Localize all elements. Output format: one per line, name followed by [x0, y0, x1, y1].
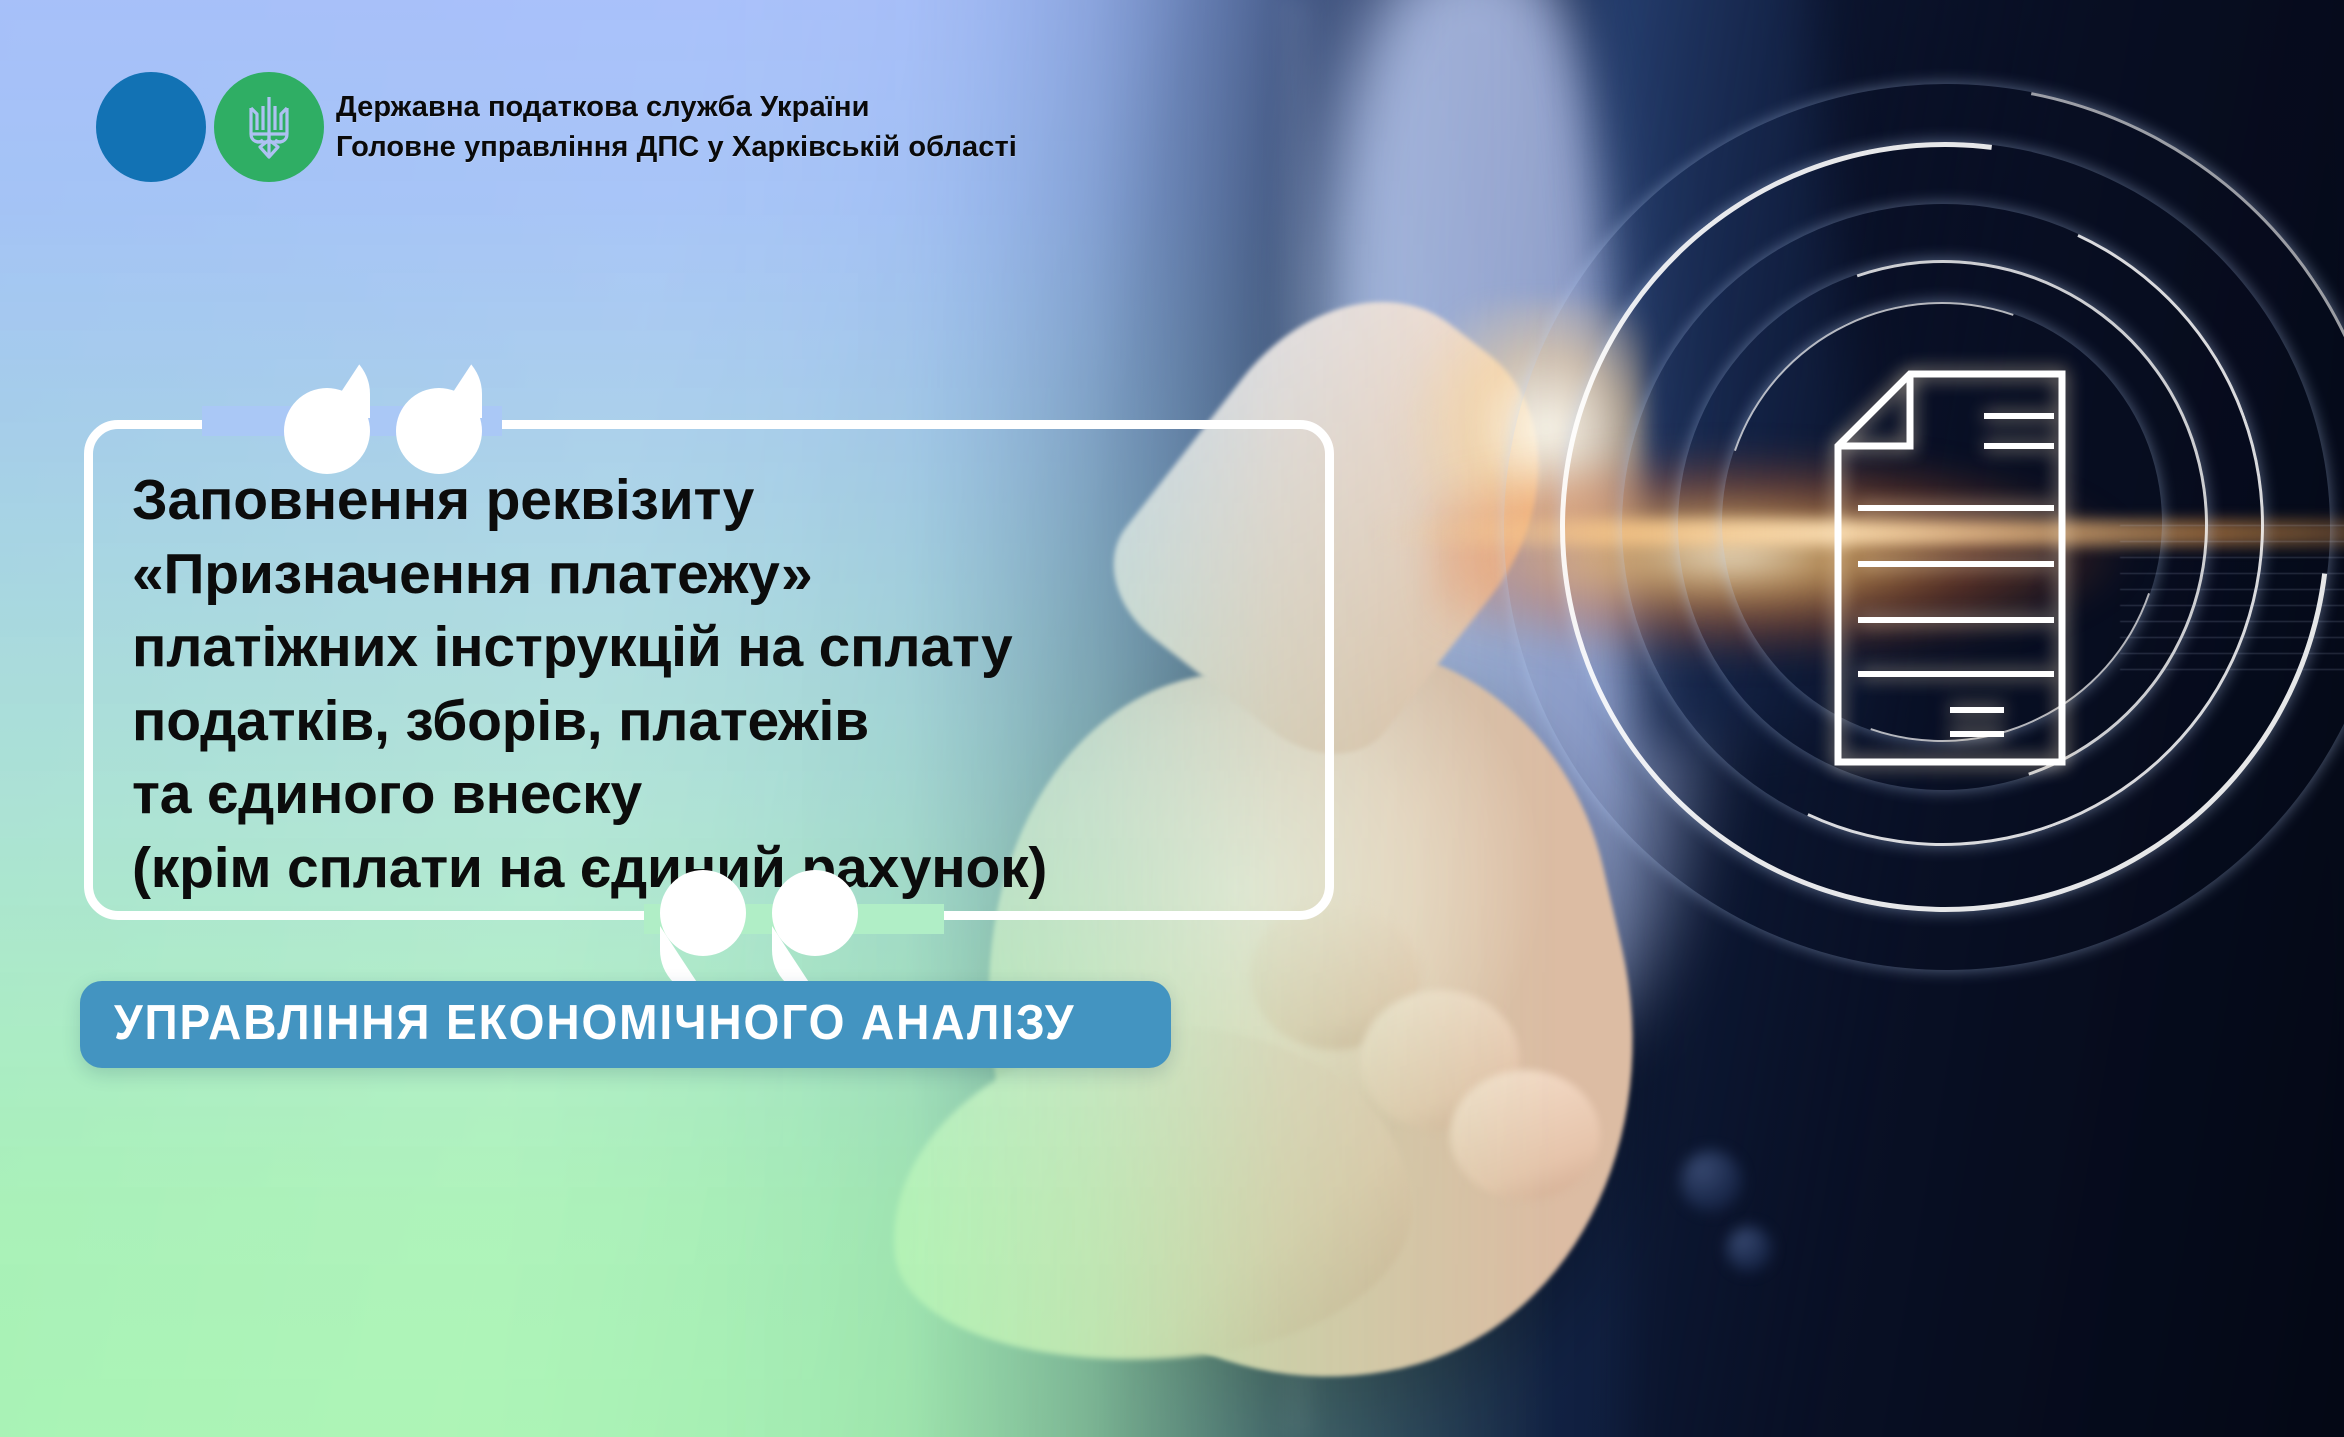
department-banner: УПРАВЛІННЯ ЕКОНОМІЧНОГО АНАЛІЗУ	[80, 981, 1171, 1068]
poster-canvas: Державна податкова служба України Головн…	[0, 0, 2344, 1437]
closing-quote-mark-icon	[660, 868, 858, 996]
scanline-texture	[2120, 510, 2344, 670]
department-banner-label: УПРАВЛІННЯ ЕКОНОМІЧНОГО АНАЛІЗУ	[114, 999, 1075, 1048]
ukraine-trident-icon	[242, 94, 296, 160]
brand-text-block: Державна податкова служба України Головн…	[336, 90, 1017, 164]
org-name-line-2: Головне управління ДПС у Харківській обл…	[336, 130, 1017, 164]
hologram-graphic	[1600, 190, 2300, 890]
quote-text: Заповнення реквізиту «Призначення платеж…	[132, 464, 1294, 905]
quote-line-2: «Призначення платежу»	[132, 538, 1294, 612]
quote-block: Заповнення реквізиту «Призначення платеж…	[84, 420, 1334, 920]
dps-logo	[96, 68, 324, 186]
logo-green-circle-icon	[214, 72, 324, 182]
quote-line-4: податків, зборів, платежів	[132, 685, 1294, 759]
brand-header: Державна податкова служба України Головн…	[96, 68, 1017, 186]
document-page-icon	[1832, 368, 2068, 768]
quote-line-5: та єдиного внеску	[132, 758, 1294, 832]
quote-line-1: Заповнення реквізиту	[132, 464, 1294, 538]
opening-quote-mark-icon	[284, 348, 482, 476]
quote-line-3: платіжних інструкцій на сплату	[132, 611, 1294, 685]
logo-blue-circle-icon	[96, 72, 206, 182]
org-name-line-1: Державна податкова служба України	[336, 90, 1017, 124]
